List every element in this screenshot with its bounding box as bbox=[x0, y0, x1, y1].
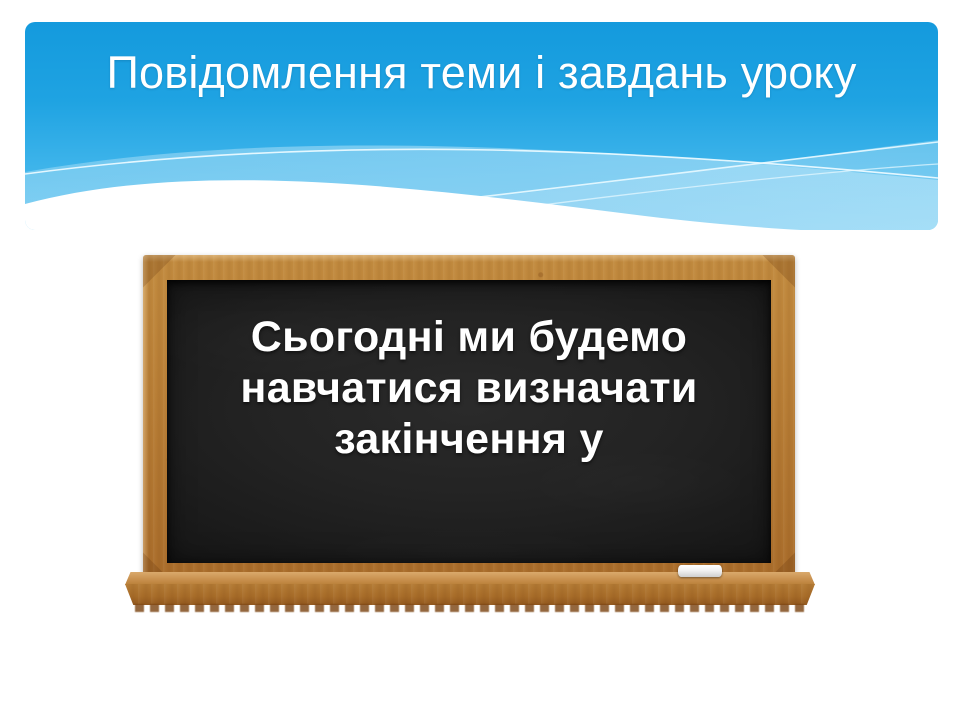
blackboard: Сьогодні ми будемо навчатися визначати з… bbox=[143, 255, 795, 585]
chalk-stick bbox=[678, 565, 722, 577]
frame-top-highlight bbox=[143, 255, 795, 262]
blackboard-surface: Сьогодні ми будемо навчатися визначати з… bbox=[167, 280, 771, 563]
blackboard-text: Сьогодні ми будемо навчатися визначати з… bbox=[157, 312, 781, 465]
slide-canvas: Повідомлення теми і завдань уроку Сьогод… bbox=[0, 0, 960, 720]
frame-left-highlight bbox=[143, 255, 149, 585]
header-banner bbox=[25, 22, 938, 230]
banner-wave-graphic bbox=[25, 22, 938, 230]
ledge-front-face bbox=[125, 584, 815, 605]
ledge-bottom-shadow bbox=[135, 604, 805, 612]
chalk-ledge bbox=[125, 572, 815, 612]
